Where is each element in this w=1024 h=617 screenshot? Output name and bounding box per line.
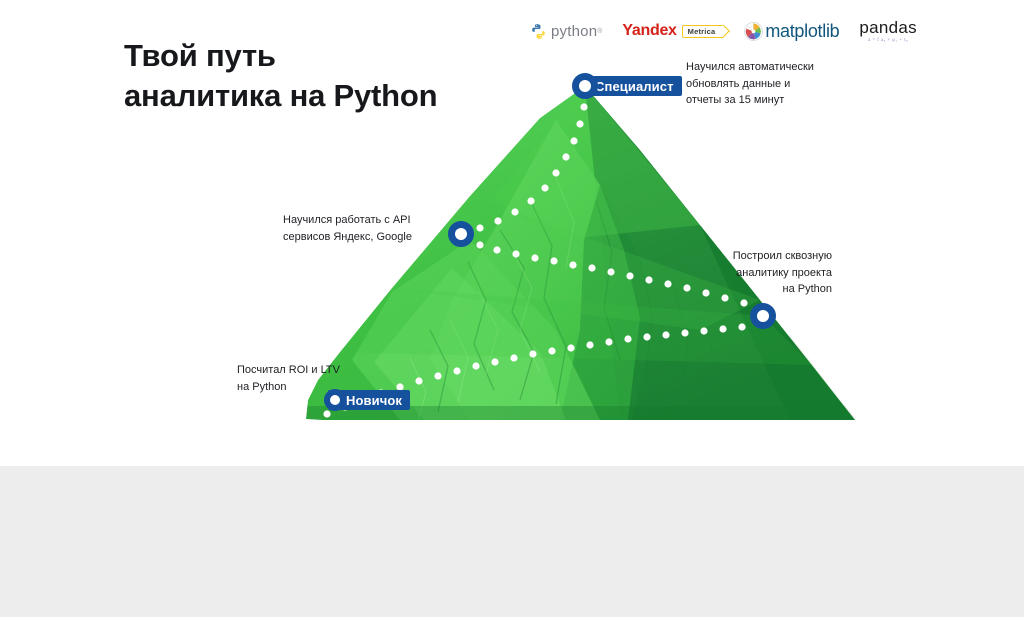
pandas-logo: pandas a = f a₀ + µ₁ + t₀	[859, 16, 917, 46]
milestone-marker-core	[579, 80, 591, 92]
milestone-marker-core	[455, 228, 467, 240]
annotation-end-to-end-analytics: Построил сквозную аналитику проекта на P…	[690, 248, 832, 298]
matplotlib-radial-icon	[744, 22, 763, 41]
pandas-tagline: a = f a₀ + µ₁ + t₀	[868, 38, 908, 43]
python-logo-text: python	[551, 23, 597, 40]
yandex-logo-text: Yandex	[622, 22, 676, 40]
slide-canvas: Твой путь аналитика на Python python® Ya…	[0, 0, 1024, 466]
partner-logo-strip: python® Yandex Metrica	[530, 16, 917, 46]
milestone-marker-end-to-end-analytics[interactable]	[750, 303, 776, 329]
matplotlib-logo-text: matplotlib	[765, 21, 839, 42]
annotation-api-services: Научился работать с API сервисов Яндекс,…	[283, 212, 435, 245]
milestone-marker-specialist[interactable]	[572, 73, 598, 99]
page-title: Твой путь аналитика на Python	[124, 36, 544, 115]
python-trademark: ®	[597, 28, 602, 35]
python-logo: python®	[530, 16, 602, 46]
milestone-marker-core	[330, 395, 340, 405]
matplotlib-logo: matplotlib	[744, 16, 839, 46]
yandex-metrica-logo: Yandex Metrica	[622, 16, 724, 46]
milestone-marker-api-services[interactable]	[448, 221, 474, 247]
milestone-marker-core	[757, 310, 769, 322]
annotation-novice: Посчитал ROI и LTV на Python	[237, 362, 367, 395]
python-snake-icon	[530, 23, 547, 40]
pandas-logo-text: pandas	[859, 19, 917, 36]
bottom-grey-band	[0, 466, 1024, 617]
annotation-specialist: Научился автоматически обновлять данные …	[686, 59, 848, 109]
metrica-badge: Metrica	[682, 25, 725, 38]
